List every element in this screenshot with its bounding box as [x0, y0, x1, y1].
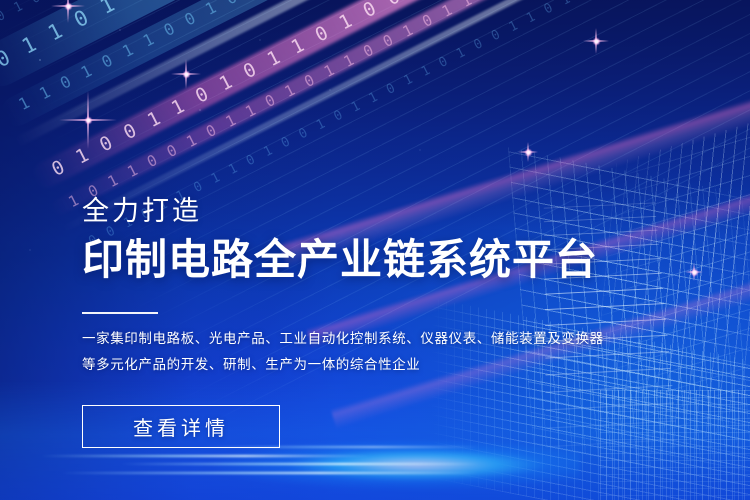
hero-headline: 印制电路全产业链系统平台 [82, 236, 598, 283]
hero-content: 全力打造 印制电路全产业链系统平台 一家集印制电路板、光电产品、工业自动化控制系… [82, 0, 702, 500]
hero-eyebrow: 全力打造 [82, 198, 202, 225]
view-details-button[interactable]: 查看详情 [82, 405, 280, 448]
hero-description-line-2: 等多元化产品的开发、研制、生产为一体的综合性企业 [82, 352, 604, 378]
hero-description-line-1: 一家集印制电路板、光电产品、工业自动化控制系统、仪器仪表、储能装置及变换器 [82, 326, 604, 352]
hero-banner: 1 0 1 0 0 1 1 0 1 0 1 1 0 0 1 0 1 1 1 0 … [0, 0, 750, 500]
hero-description: 一家集印制电路板、光电产品、工业自动化控制系统、仪器仪表、储能装置及变换器 等多… [82, 326, 604, 378]
star-glint-top-left [51, 0, 85, 23]
hero-divider [82, 312, 158, 314]
